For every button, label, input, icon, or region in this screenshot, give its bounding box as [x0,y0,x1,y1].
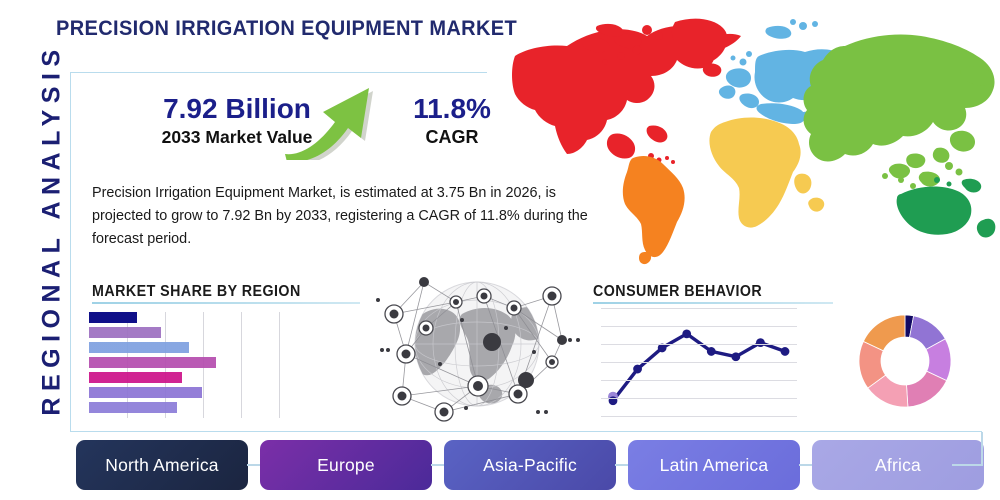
world-map-icon [497,8,997,270]
bar-item [89,312,137,323]
line-chart-gridlines [601,308,797,418]
section-header-consumer-behavior: CONSUMER BEHAVIOR [593,283,762,301]
frame-edge-vertical [981,432,983,465]
region-connector [615,464,629,466]
line-gridline-5 [601,398,797,399]
bar-gridline-4 [279,312,280,418]
line-gridline-1 [601,326,797,327]
line-gridline-6 [601,416,797,417]
region-connector [431,464,445,466]
region-connector [799,464,813,466]
region-button-label: Latin America [660,455,769,476]
region-button-label: North America [105,455,218,476]
consumer-behavior-line-chart [601,308,797,418]
frame-edge-horizontal [952,464,983,466]
bar-item [89,387,202,398]
market-share-bar-chart [89,312,289,418]
section-rule-market-share [92,302,360,304]
bar-item [89,402,177,413]
line-gridline-0 [601,308,797,309]
bar-item [89,342,189,353]
line-gridline-3 [601,362,797,363]
region-button-north-america[interactable]: North America [76,440,248,490]
page-title: PRECISION IRRIGATION EQUIPMENT MARKET [56,16,517,41]
region-button-bar: North AmericaEuropeAsia-PacificLatin Ame… [76,440,988,490]
section-rule-consumer-behavior [593,302,833,304]
bar-item [89,357,216,368]
global-network-globe-icon [366,266,588,426]
region-button-asia-pacific[interactable]: Asia-Pacific [444,440,616,490]
region-button-latin-america[interactable]: Latin America [628,440,800,490]
line-gridline-2 [601,344,797,345]
infographic-root: REGIONAL ANALYSIS PRECISION IRRIGATION E… [0,0,1000,500]
bar-item [89,372,182,383]
segment-donut-chart [857,311,953,411]
region-button-label: Africa [875,455,921,476]
region-button-europe[interactable]: Europe [260,440,432,490]
bar-item [89,327,161,338]
growth-arrow-icon [282,78,378,160]
line-gridline-4 [601,380,797,381]
bar-gridline-3 [241,312,242,418]
section-header-market-share: MARKET SHARE BY REGION [92,283,301,301]
region-connector [247,464,261,466]
region-button-label: Asia-Pacific [483,455,577,476]
vertical-section-label: REGIONAL ANALYSIS [38,30,67,430]
region-button-label: Europe [317,455,375,476]
